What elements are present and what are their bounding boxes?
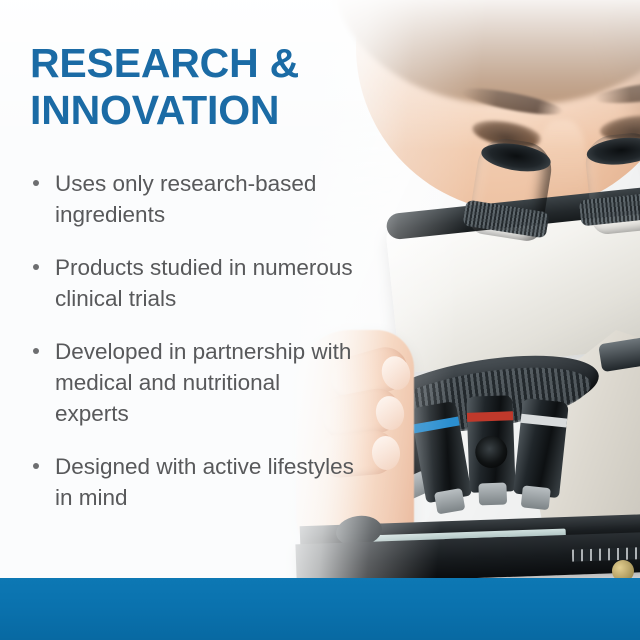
stage-vernier-scale bbox=[572, 546, 640, 561]
list-item: Designed with active lifestyles in mind bbox=[30, 451, 360, 513]
bullet-dot-icon bbox=[33, 348, 39, 354]
page-title-line1: RESEARCH & bbox=[30, 40, 299, 86]
page-title: RESEARCH & INNOVATION bbox=[30, 40, 360, 134]
list-item: Uses only research-based ingredients bbox=[30, 168, 360, 230]
promo-graphic: RESEARCH & INNOVATION Uses only research… bbox=[0, 0, 640, 640]
objective-tip bbox=[521, 485, 551, 510]
bullet-dot-icon bbox=[33, 463, 39, 469]
objective-tip bbox=[478, 482, 507, 505]
list-item-label: Products studied in numerous clinical tr… bbox=[55, 255, 353, 311]
objective-front-lens bbox=[475, 435, 508, 468]
objective-lens-red bbox=[466, 395, 515, 493]
list-item: Developed in partnership with medical an… bbox=[30, 336, 360, 429]
footer-bar: DOUGLAS LABORATORIES® bbox=[0, 578, 640, 640]
objective-band-blue bbox=[413, 416, 460, 433]
bullet-dot-icon bbox=[33, 180, 39, 186]
list-item: Products studied in numerous clinical tr… bbox=[30, 252, 360, 314]
page-title-line2: INNOVATION bbox=[30, 87, 279, 133]
list-item-label: Uses only research-based ingredients bbox=[55, 171, 316, 227]
objective-band-silver bbox=[521, 414, 568, 428]
benefits-list: Uses only research-based ingredients Pro… bbox=[30, 168, 360, 535]
list-item-label: Designed with active lifestyles in mind bbox=[55, 454, 354, 510]
bullet-dot-icon bbox=[33, 264, 39, 270]
objective-band-red bbox=[467, 411, 513, 422]
list-item-label: Developed in partnership with medical an… bbox=[55, 339, 351, 426]
